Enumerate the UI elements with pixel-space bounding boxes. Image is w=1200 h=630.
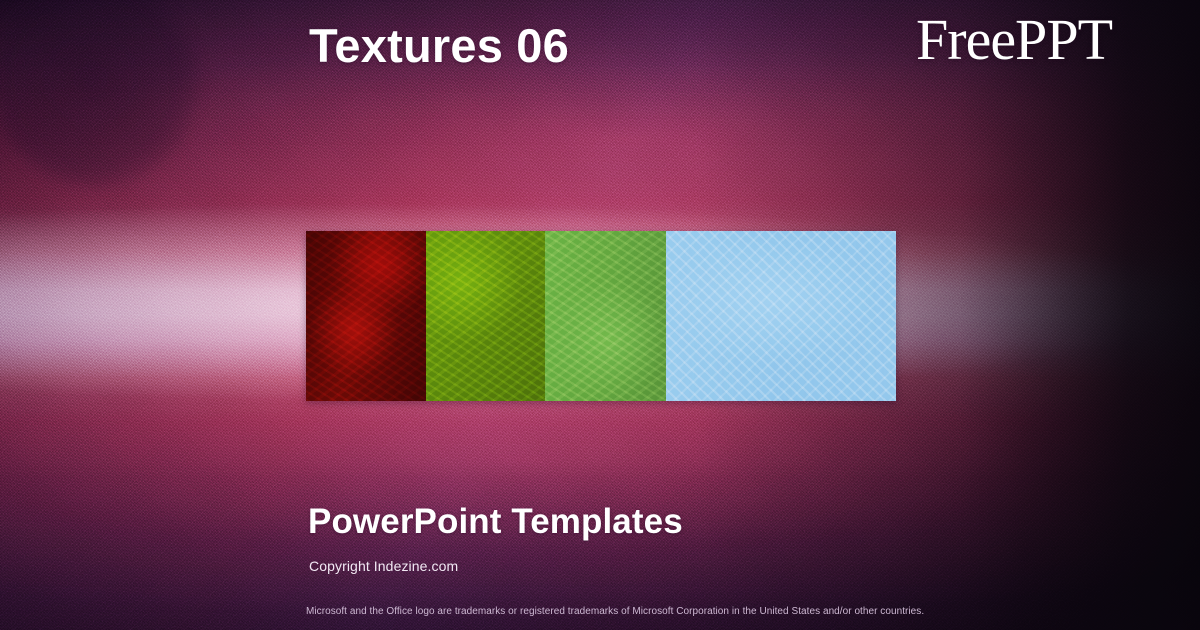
swatch-dark-red-grain [306,231,426,401]
swatch-green[interactable] [545,231,666,401]
swatch-light-blue-grain [666,231,896,401]
trademark-disclaimer: Microsoft and the Office logo are tradem… [306,606,924,617]
page-title: Textures 06 [309,18,569,73]
swatch-olive-green-grain [426,231,545,401]
swatch-light-blue[interactable] [666,231,896,401]
copyright-text: Copyright Indezine.com [309,558,458,574]
swatch-dark-red[interactable] [306,231,426,401]
swatch-green-grain [545,231,666,401]
texture-swatch-strip [306,231,896,401]
freeppt-logo[interactable]: FreePPT [916,11,1112,69]
slide-preview-canvas: Textures 06 FreePPT PowerPoint Templates… [0,0,1200,630]
swatch-olive-green[interactable] [426,231,545,401]
page-subtitle: PowerPoint Templates [308,502,683,542]
